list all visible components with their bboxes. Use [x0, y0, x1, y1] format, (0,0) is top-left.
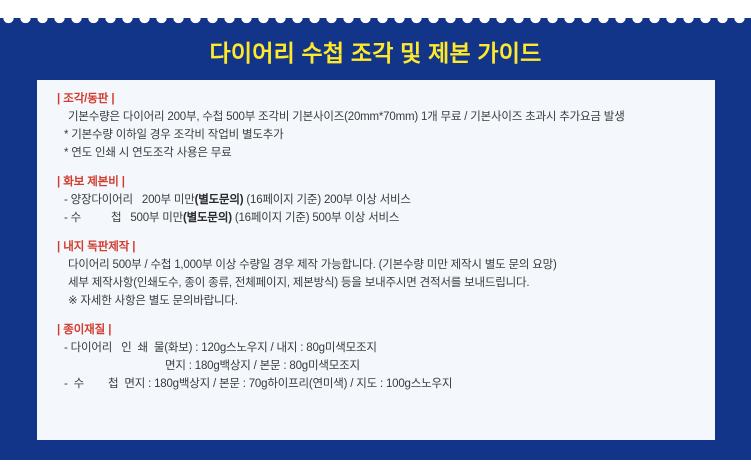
content-card-inner: | 조각/동판 | 기본수량은 다이어리 200부, 수첩 500부 조각비 기… [57, 91, 705, 393]
line-text-post: (16페이지 기준) 200부 이상 서비스 [243, 194, 410, 206]
line-text-pre: - 수 첩 500부 미만 [64, 212, 183, 224]
section-line: - 수 첩 500부 미만(별도문의) (16페이지 기준) 500부 이상 서… [57, 209, 705, 227]
section-heading: | 조각/동판 | [57, 91, 705, 108]
section-line: 기본수량은 다이어리 200부, 수첩 500부 조각비 기본사이즈(20mm*… [57, 108, 705, 126]
section-engraving: | 조각/동판 | 기본수량은 다이어리 200부, 수첩 500부 조각비 기… [57, 91, 705, 162]
guide-page: 다이어리 수첩 조각 및 제본 가이드 | 조각/동판 | 기본수량은 다이어리… [0, 0, 751, 473]
page-title: 다이어리 수첩 조각 및 제본 가이드 [0, 39, 751, 67]
section-line: * 기본수량 이하일 경우 조각비 작업비 별도추가 [57, 126, 705, 144]
line-text-post: (16페이지 기준) 500부 이상 서비스 [232, 212, 399, 224]
section-line: - 양장다이어리 200부 미만(별도문의) (16페이지 기준) 200부 이… [57, 191, 705, 209]
section-line: * 연도 인쇄 시 연도조각 사용은 무료 [57, 144, 705, 162]
section-paper-material: | 종이재질 | - 다이어리 인 쇄 물(화보) : 120g스노우지 / 내… [57, 322, 705, 393]
line-text-bold: (별도문의) [195, 194, 244, 206]
top-white-margin [0, 0, 751, 18]
line-text-bold: (별도문의) [183, 212, 232, 224]
section-line: 면지 : 180g백상지 / 본문 : 80g미색모조지 [57, 357, 705, 375]
section-custom-inner-production: | 내지 독판제작 | 다이어리 500부 / 수첩 1,000부 이상 수량일… [57, 239, 705, 310]
section-heading: | 내지 독판제작 | [57, 239, 705, 256]
section-line: - 수 첩 면지 : 180g백상지 / 본문 : 70g하이프리(연미색) /… [57, 375, 705, 393]
section-line: ※ 자세한 사항은 별도 문의바랍니다. [57, 292, 705, 310]
bottom-white-margin [0, 460, 751, 473]
section-line: 세부 제작사항(인쇄도수, 종이 종류, 전체페이지, 제본방식) 등을 보내주… [57, 274, 705, 292]
section-line: - 다이어리 인 쇄 물(화보) : 120g스노우지 / 내지 : 80g미색… [57, 339, 705, 357]
line-text-pre: - 양장다이어리 200부 미만 [64, 194, 195, 206]
section-line: 다이어리 500부 / 수첩 1,000부 이상 수량일 경우 제작 가능합니다… [57, 256, 705, 274]
section-heading: | 화보 제본비 | [57, 174, 705, 191]
section-binding-cost: | 화보 제본비 | - 양장다이어리 200부 미만(별도문의) (16페이지… [57, 174, 705, 227]
content-card: | 조각/동판 | 기본수량은 다이어리 200부, 수첩 500부 조각비 기… [37, 80, 715, 440]
section-heading: | 종이재질 | [57, 322, 705, 339]
